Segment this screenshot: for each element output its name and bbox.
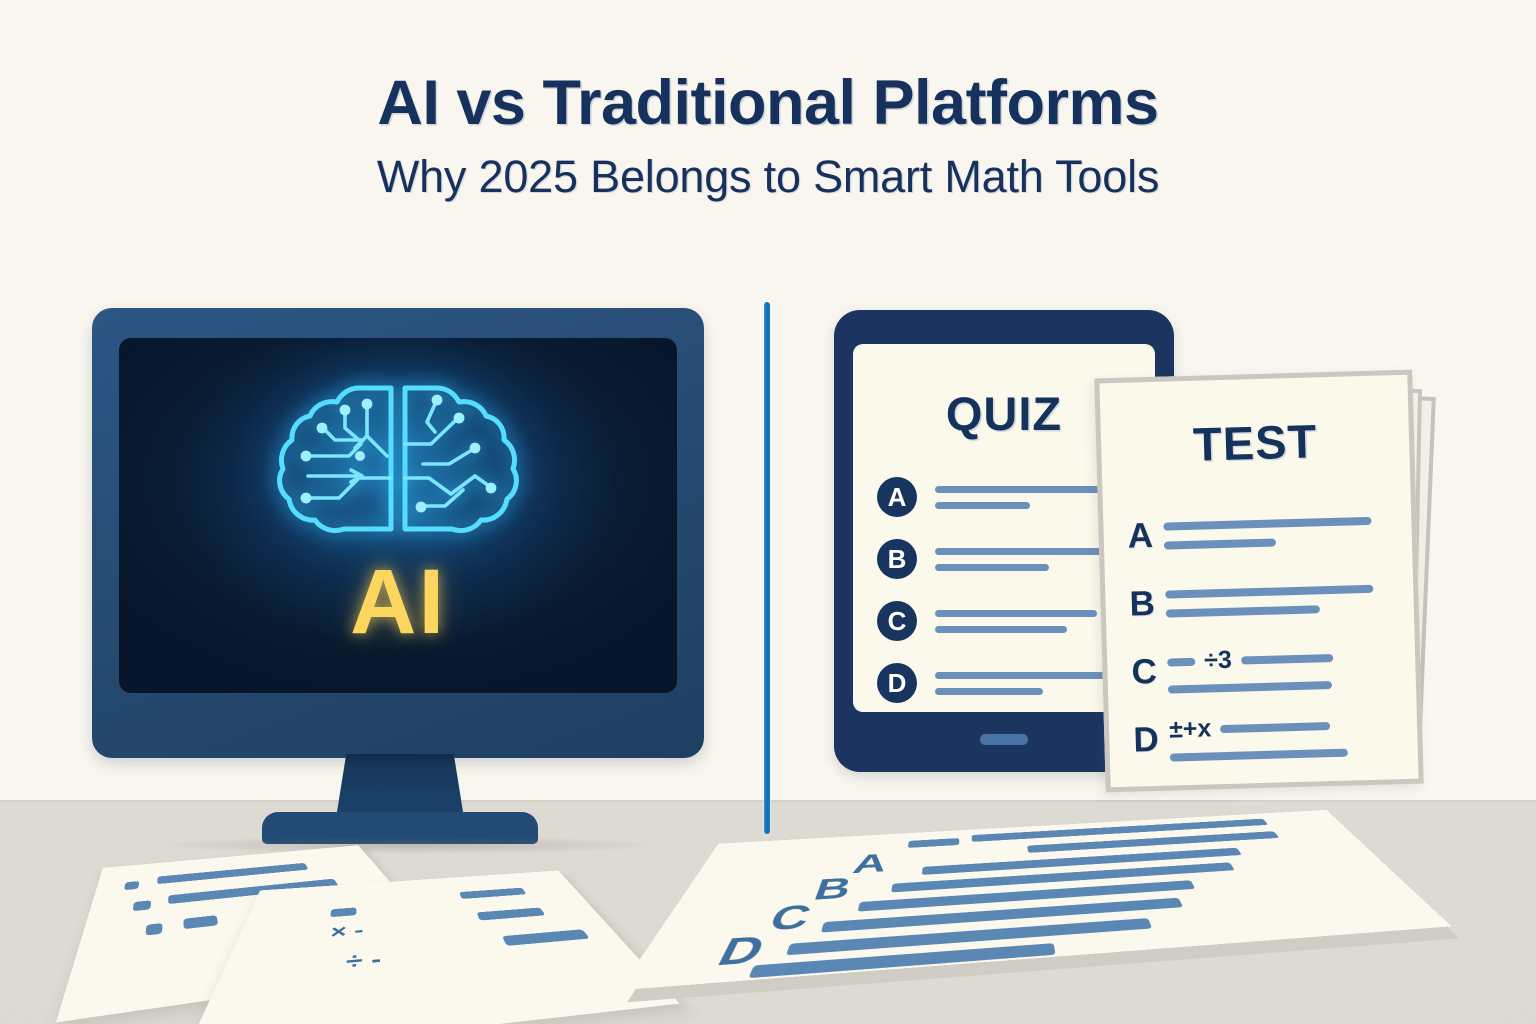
paper-mark bbox=[145, 923, 162, 936]
text-line bbox=[935, 672, 1105, 679]
text-line bbox=[1167, 657, 1195, 666]
paper-letter: B bbox=[810, 874, 855, 906]
vertical-divider bbox=[764, 302, 770, 834]
test-line-group: ±+x bbox=[1169, 713, 1348, 743]
test-row-letter: A bbox=[1127, 516, 1164, 557]
test-row[interactable]: B bbox=[1129, 563, 1399, 638]
text-line bbox=[935, 626, 1067, 633]
math-symbol-divide: ÷3 bbox=[1204, 648, 1232, 674]
option-text-lines bbox=[935, 486, 1118, 509]
paper-mark bbox=[124, 881, 139, 890]
test-line-group bbox=[1166, 603, 1374, 617]
test-row-list: A B bbox=[1127, 495, 1402, 774]
paper-mark bbox=[133, 900, 152, 911]
test-row[interactable]: D ±+x bbox=[1132, 699, 1402, 774]
option-letter-badge: B bbox=[877, 539, 917, 579]
monitor-screen: AI bbox=[119, 338, 677, 693]
page-subtitle: Why 2025 Belongs to Smart Math Tools bbox=[0, 150, 1536, 204]
test-row-letter: B bbox=[1129, 584, 1166, 625]
test-paper: TEST A B bbox=[1094, 370, 1423, 793]
paper-mark bbox=[502, 929, 590, 946]
option-letter-badge: C bbox=[877, 601, 917, 641]
option-text-lines bbox=[935, 672, 1105, 695]
text-line bbox=[935, 486, 1118, 493]
heading-block: AI vs Traditional Platforms Why 2025 Bel… bbox=[0, 66, 1536, 204]
test-row-letter: C bbox=[1131, 652, 1168, 693]
text-line bbox=[1170, 749, 1348, 762]
option-letter-badge: A bbox=[877, 477, 917, 517]
test-line-group bbox=[1165, 584, 1373, 598]
option-text-lines bbox=[935, 548, 1118, 571]
test-row-lines bbox=[1165, 584, 1374, 617]
math-symbol-group: ÷ ‑ bbox=[345, 949, 381, 974]
test-row[interactable]: A bbox=[1127, 495, 1397, 570]
text-line bbox=[935, 688, 1043, 695]
paper-mark bbox=[330, 907, 356, 917]
text-line bbox=[1166, 605, 1320, 617]
test-title: TEST bbox=[1100, 411, 1409, 475]
option-text-lines bbox=[935, 610, 1097, 633]
text-line bbox=[935, 610, 1097, 617]
text-line bbox=[935, 502, 1030, 509]
test-row-lines: ±+x bbox=[1169, 713, 1348, 762]
option-letter-badge: D bbox=[877, 663, 917, 703]
test-row-lines: ÷3 bbox=[1167, 645, 1334, 694]
text-line bbox=[1220, 722, 1330, 733]
math-symbol-group: × ‑ bbox=[329, 921, 363, 942]
paper-letter: C bbox=[764, 900, 815, 936]
paper-mark bbox=[157, 863, 308, 884]
ai-label: AI bbox=[119, 556, 677, 648]
paper-mark bbox=[476, 907, 545, 920]
test-row-letter: D bbox=[1133, 720, 1170, 761]
paper-mark bbox=[908, 838, 960, 848]
text-line bbox=[935, 548, 1118, 555]
test-line-group bbox=[1170, 749, 1348, 762]
test-line-group: ÷3 bbox=[1167, 645, 1333, 675]
text-line bbox=[1163, 516, 1371, 530]
test-line-group bbox=[1163, 516, 1371, 530]
desktop-monitor: AI bbox=[92, 308, 704, 758]
circuit-brain-icon bbox=[263, 366, 533, 546]
text-line bbox=[1164, 538, 1276, 549]
text-line bbox=[1165, 584, 1373, 598]
test-row-lines bbox=[1163, 516, 1372, 549]
paper-mark bbox=[459, 888, 526, 899]
home-button[interactable] bbox=[980, 734, 1028, 745]
text-line bbox=[935, 564, 1049, 571]
monitor-shadow bbox=[160, 836, 660, 854]
test-line-group bbox=[1164, 535, 1372, 549]
test-row[interactable]: C ÷3 bbox=[1131, 631, 1401, 706]
test-line-group bbox=[1168, 681, 1334, 694]
text-line bbox=[1241, 653, 1333, 664]
math-symbol-plusminus: ±+x bbox=[1169, 716, 1212, 742]
poster-canvas: AI vs Traditional Platforms Why 2025 Bel… bbox=[0, 0, 1536, 1024]
paper-mark bbox=[183, 915, 218, 929]
paper-letter: A bbox=[850, 850, 889, 878]
monitor-neck bbox=[336, 754, 464, 818]
text-line bbox=[1168, 681, 1332, 694]
page-title: AI vs Traditional Platforms bbox=[0, 66, 1536, 140]
